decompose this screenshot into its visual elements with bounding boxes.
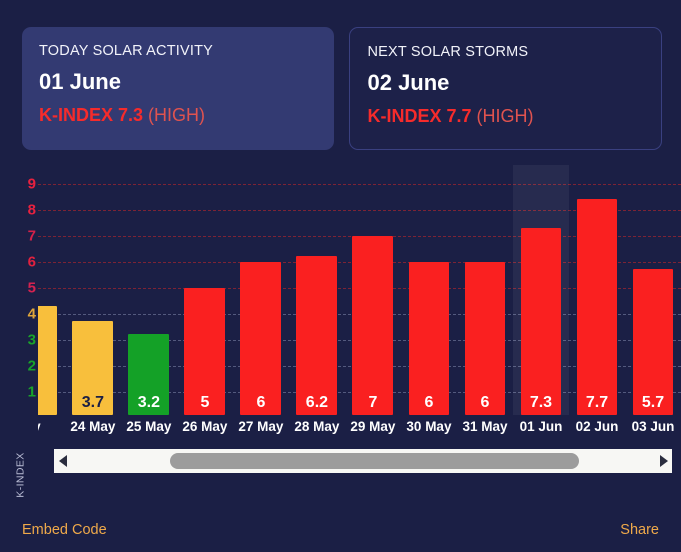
widget-footer: Embed Code Share (22, 518, 659, 542)
x-axis-tick: 25 May (121, 419, 177, 434)
x-axis-tick: 26 May (177, 419, 233, 434)
bar[interactable]: 5 (184, 288, 225, 415)
x-axis-tick: 31 May (457, 419, 513, 434)
chart-y-axis: 987654321 (14, 165, 36, 415)
y-axis-title: K-INDEX (10, 440, 32, 510)
bar[interactable]: 7 (352, 236, 393, 415)
bar[interactable] (38, 306, 57, 415)
bar[interactable]: 5.7 (633, 269, 674, 415)
y-axis-tick-8: 8 (28, 202, 36, 217)
y-axis-tick-3: 3 (28, 332, 36, 347)
card-date: 01 June (39, 69, 317, 95)
y-axis-tick-1: 1 (28, 384, 36, 399)
y-axis-tick-6: 6 (28, 254, 36, 269)
chart-horizontal-scrollbar[interactable] (54, 449, 672, 473)
y-axis-tick-9: 9 (28, 176, 36, 191)
bar-value-label: 3.2 (128, 395, 169, 411)
y-axis-tick-5: 5 (28, 280, 36, 295)
card-today-solar-activity: TODAY SOLAR ACTIVITY 01 June K-INDEX 7.3… (22, 27, 334, 150)
bar[interactable]: 7.7 (577, 199, 618, 415)
chart-bars: 3.73.2566.27667.37.75.7 (38, 165, 681, 415)
card-k-index: K-INDEX 7.3 (HIGH) (39, 105, 317, 126)
bar[interactable]: 6 (465, 262, 506, 415)
bar-value-label: 7.7 (577, 395, 618, 411)
bar[interactable]: 6 (240, 262, 281, 415)
y-axis-tick-4: 4 (28, 306, 36, 321)
y-axis-title-label: K-INDEX (15, 452, 27, 497)
bar-value-label: 7.3 (521, 395, 562, 411)
x-axis-tick: 29 May (345, 419, 401, 434)
bar[interactable]: 6.2 (296, 256, 337, 415)
bar-value-label: 5 (184, 395, 225, 411)
card-title: NEXT SOLAR STORMS (367, 44, 644, 60)
chevron-left-icon[interactable] (54, 449, 71, 473)
x-axis-tick: 30 May (401, 419, 457, 434)
chevron-right-icon[interactable] (655, 449, 672, 473)
y-axis-tick-2: 2 (28, 358, 36, 373)
card-date: 02 June (367, 70, 644, 96)
y-axis-tick-7: 7 (28, 228, 36, 243)
share-link[interactable]: Share (620, 522, 659, 538)
chart-x-axis: y24 May25 May26 May27 May28 May29 May30 … (38, 415, 681, 439)
bar[interactable]: 7.3 (521, 228, 562, 415)
bar-value-label: 7 (352, 395, 393, 411)
bar-value-label: 6 (465, 395, 506, 411)
x-axis-tick: 28 May (289, 419, 345, 434)
bar-value-label: 6.2 (296, 395, 337, 411)
embed-code-link[interactable]: Embed Code (22, 522, 107, 538)
bar-value-label: 3.7 (72, 395, 113, 411)
x-axis-tick: 03 Jun (625, 419, 681, 434)
x-axis-tick: 02 Jun (569, 419, 625, 434)
x-axis-tick: y (38, 419, 65, 434)
card-next-solar-storms: NEXT SOLAR STORMS 02 June K-INDEX 7.7 (H… (349, 27, 662, 150)
card-k-index-level: (HIGH) (477, 106, 534, 126)
bar-value-label: 6 (240, 395, 281, 411)
card-k-index-level: (HIGH) (148, 105, 205, 125)
scrollbar-track[interactable] (71, 449, 655, 473)
bar-value-label: 5.7 (633, 395, 674, 411)
card-k-index: K-INDEX 7.7 (HIGH) (367, 106, 644, 127)
k-index-bar-chart: 987654321 3.73.2566.27667.37.75.7 y24 Ma… (0, 165, 681, 455)
bar-value-label: 6 (409, 395, 450, 411)
x-axis-tick: 27 May (233, 419, 289, 434)
scrollbar-thumb[interactable] (170, 453, 579, 469)
card-k-index-value: K-INDEX 7.7 (367, 106, 471, 126)
card-title: TODAY SOLAR ACTIVITY (39, 43, 317, 59)
x-axis-tick: 01 Jun (513, 419, 569, 434)
chart-plot-area: 3.73.2566.27667.37.75.7 (38, 165, 681, 415)
x-axis-tick: 24 May (65, 419, 121, 434)
bar[interactable]: 3.2 (128, 334, 169, 415)
solar-activity-widget: TODAY SOLAR ACTIVITY 01 June K-INDEX 7.3… (0, 0, 681, 552)
bar[interactable]: 3.7 (72, 321, 113, 415)
summary-cards: TODAY SOLAR ACTIVITY 01 June K-INDEX 7.3… (22, 27, 662, 150)
card-k-index-value: K-INDEX 7.3 (39, 105, 143, 125)
bar[interactable]: 6 (409, 262, 450, 415)
